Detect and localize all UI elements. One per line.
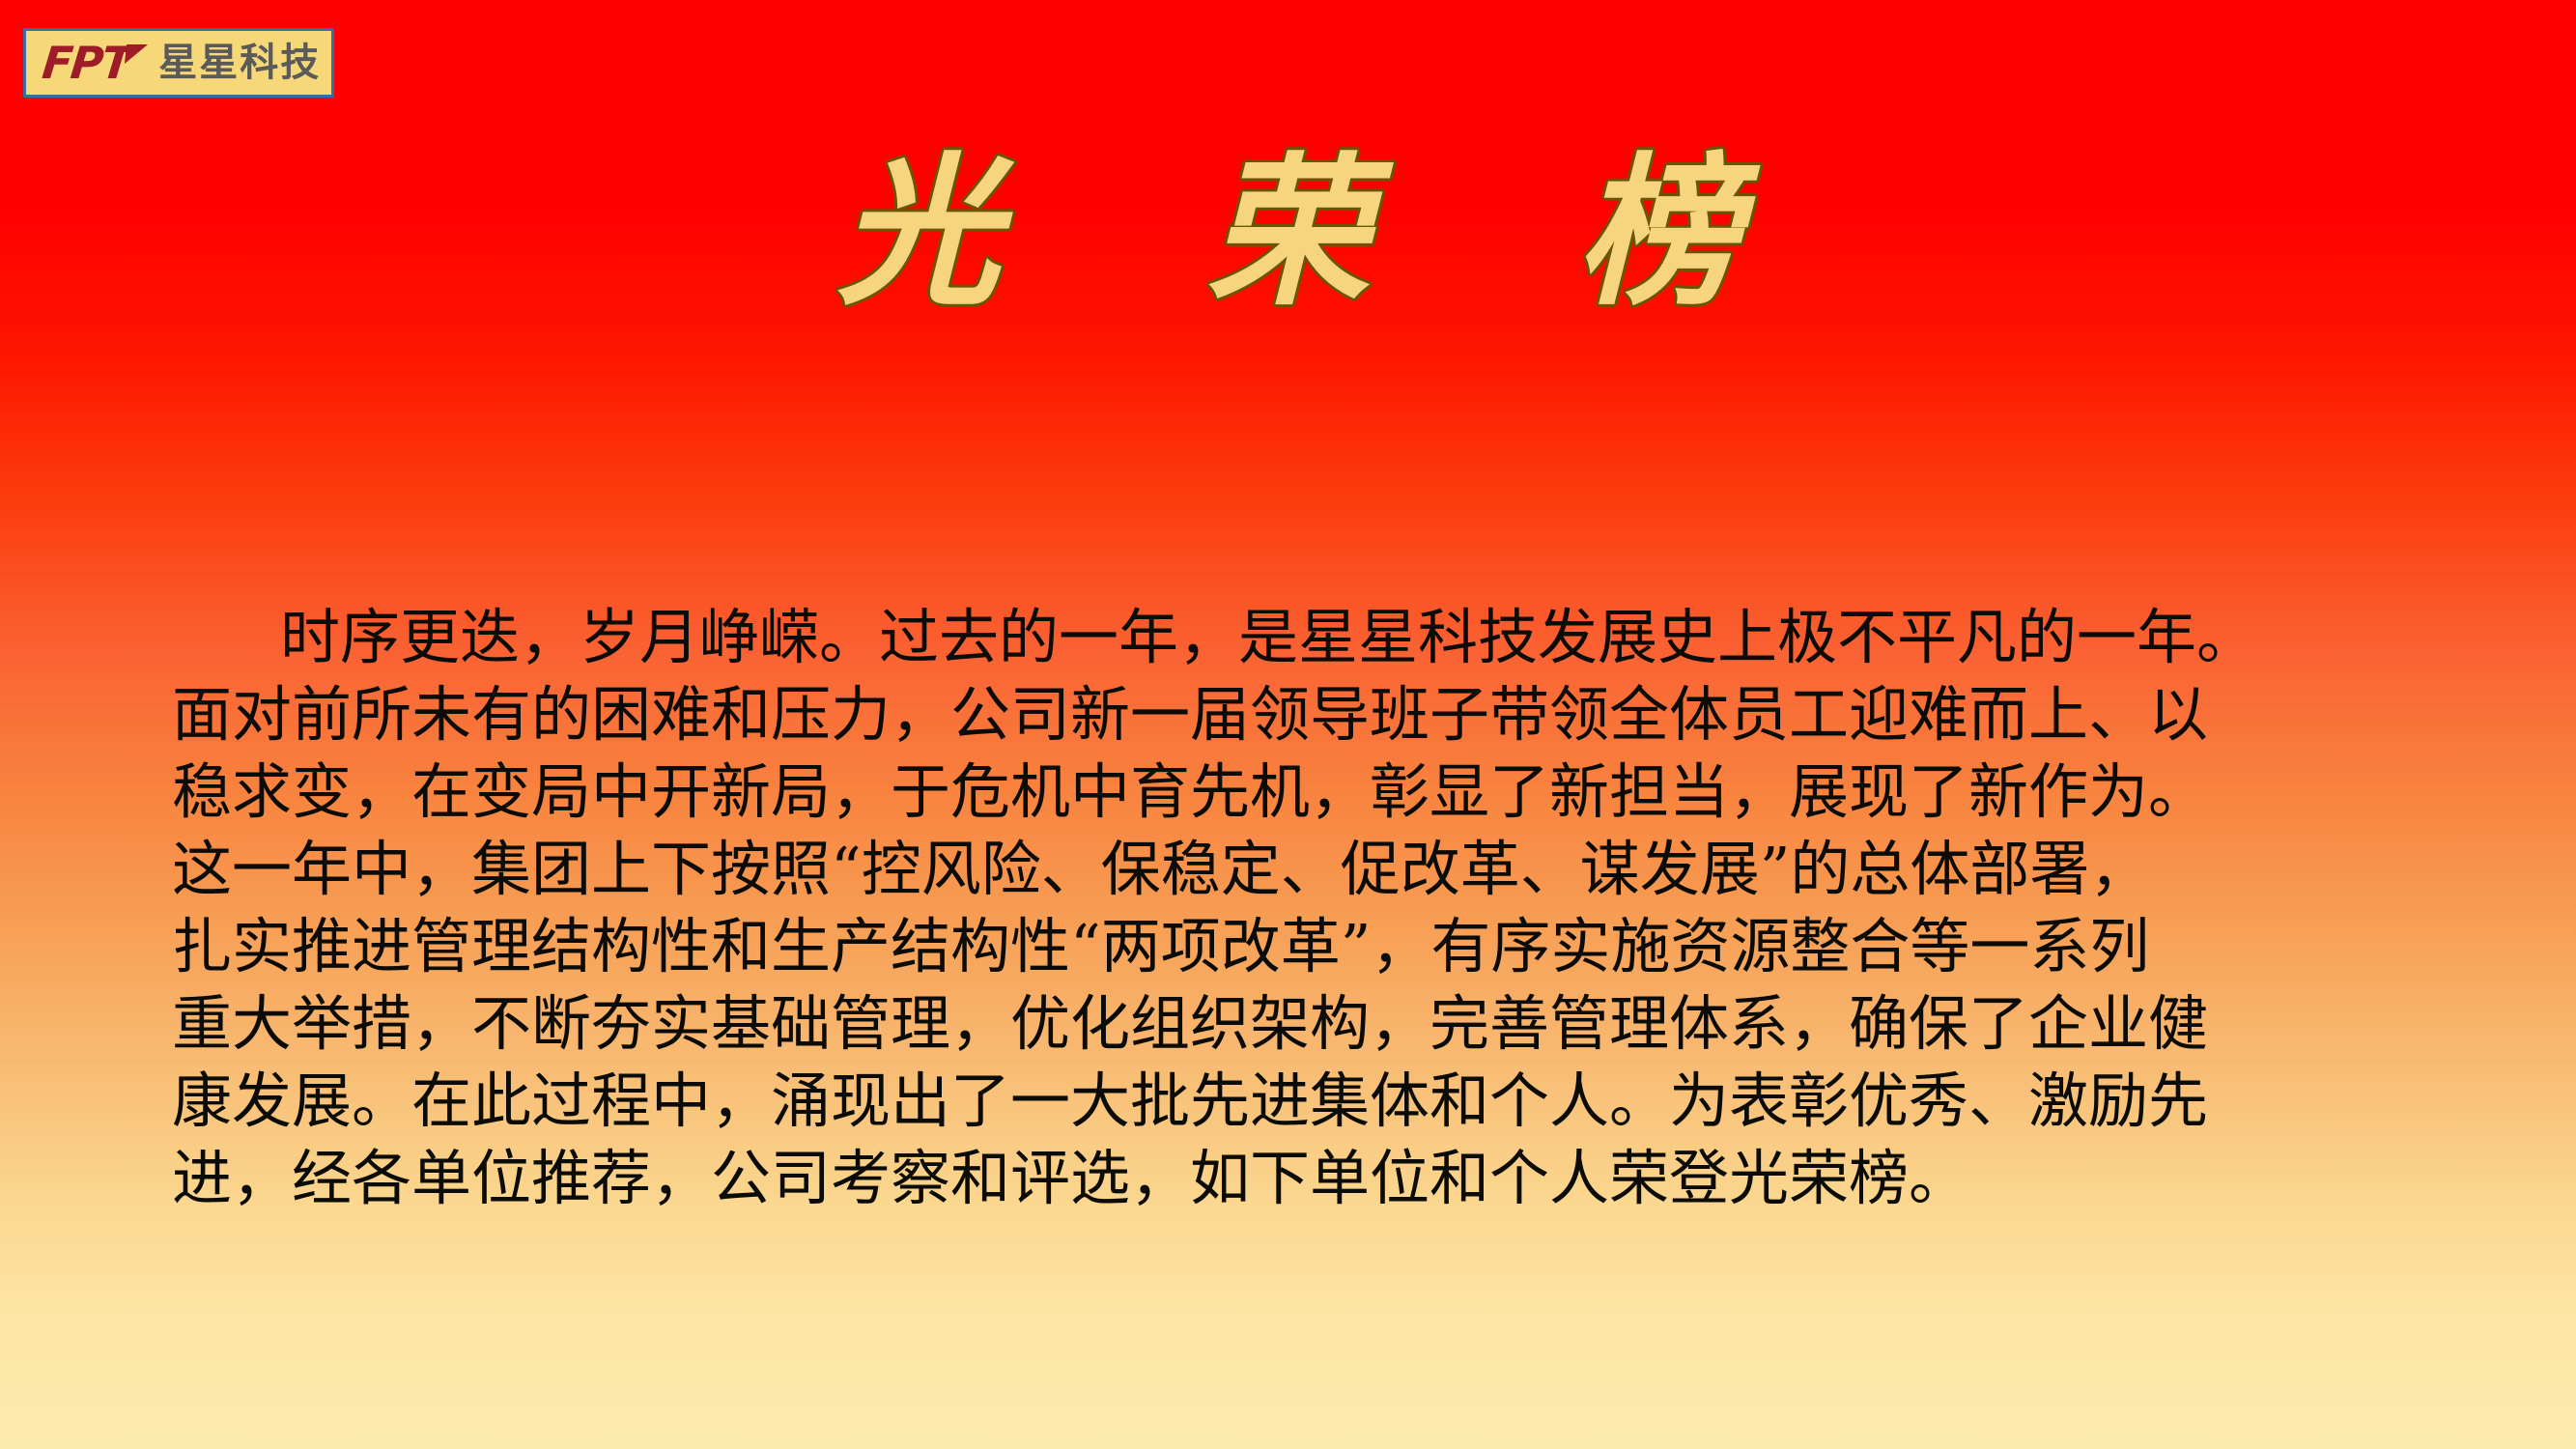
slide-canvas: FPT 星星科技 光 荣 榜 时序更迭，岁月峥嵘。过去的一年，是星星科技发展史上… [0, 0, 2576, 1449]
logo-company-name-cn: 星星科技 [158, 43, 321, 83]
logo-fpt-wordmark: FPT [40, 41, 131, 85]
body-line: 时序更迭，岁月峥嵘。过去的一年，是星星科技发展史上极不平凡的一年。 [172, 599, 2413, 676]
body-line: 这一年中，集团上下按照“控风险、保稳定、促改革、谋发展”的总体部署， [172, 831, 2413, 908]
body-line: 康发展。在此过程中，涌现出了一大批先进集体和个人。为表彰优秀、激励先 [172, 1063, 2413, 1140]
body-line: 进，经各单位推荐，公司考察和评选，如下单位和个人荣登光荣榜。 [172, 1140, 2413, 1217]
logo-tick-icon [125, 44, 148, 64]
logo-inner: FPT [42, 41, 148, 85]
body-line: 面对前所未有的困难和压力，公司新一届领导班子带领全体员工迎难而上、以 [172, 676, 2413, 753]
body-paragraph: 时序更迭，岁月峥嵘。过去的一年，是星星科技发展史上极不平凡的一年。 面对前所未有… [172, 599, 2413, 1217]
body-line: 重大举措，不断夯实基础管理，优化组织架构，完善管理体系，确保了企业健 [172, 985, 2413, 1063]
company-logo: FPT 星星科技 [23, 28, 334, 98]
body-line: 扎实推进管理结构性和生产结构性“两项改革”，有序实施资源整合等一系列 [172, 908, 2413, 985]
page-title: 光 荣 榜 [0, 145, 2576, 319]
body-line: 稳求变，在变局中开新局，于危机中育先机，彰显了新担当，展现了新作为。 [172, 753, 2413, 831]
